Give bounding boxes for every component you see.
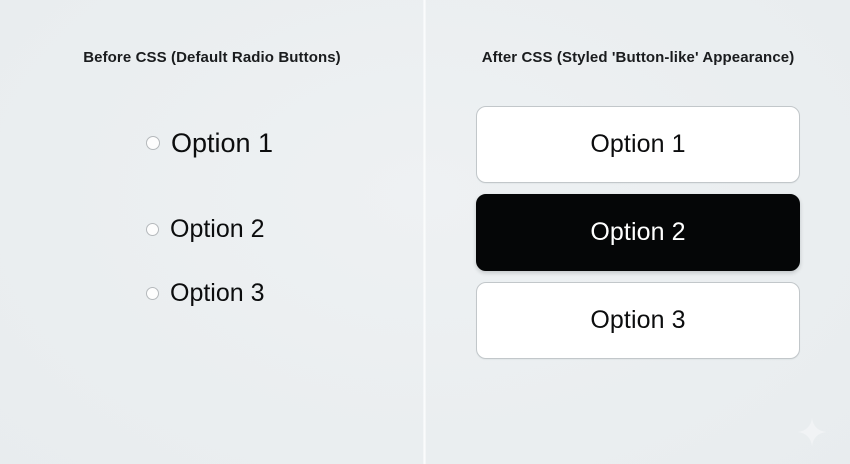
- radio-option-3-label: Option 3: [170, 281, 265, 306]
- styled-radio-group: Option 1 Option 2 Option 3: [476, 106, 800, 359]
- styled-option-3-button[interactable]: Option 3: [476, 282, 800, 359]
- styled-option-2-label: Option 2: [590, 218, 685, 247]
- before-css-panel: Before CSS (Default Radio Buttons) Optio…: [0, 0, 424, 464]
- radio-option-1[interactable]: Option 1: [0, 118, 424, 168]
- default-radio-group: Option 1 Option 2 Option 3: [0, 118, 424, 315]
- styled-option-1-label: Option 1: [590, 130, 685, 159]
- before-css-panel-title: Before CSS (Default Radio Buttons): [0, 46, 424, 70]
- radio-option-1-label: Option 1: [171, 130, 273, 157]
- radio-circle-icon[interactable]: [146, 223, 159, 236]
- after-css-panel: After CSS (Styled 'Button-like' Appearan…: [426, 0, 850, 464]
- radio-circle-icon[interactable]: [146, 136, 160, 150]
- radio-option-2-label: Option 2: [170, 217, 265, 242]
- styled-option-2-button[interactable]: Option 2: [476, 194, 800, 271]
- styled-option-1-button[interactable]: Option 1: [476, 106, 800, 183]
- radio-circle-icon[interactable]: [146, 287, 159, 300]
- radio-option-3[interactable]: Option 3: [0, 271, 424, 315]
- after-css-panel-title: After CSS (Styled 'Button-like' Appearan…: [426, 46, 850, 70]
- comparison-figure: Before CSS (Default Radio Buttons) Optio…: [0, 0, 850, 464]
- styled-option-3-label: Option 3: [590, 306, 685, 335]
- radio-option-2[interactable]: Option 2: [0, 207, 424, 251]
